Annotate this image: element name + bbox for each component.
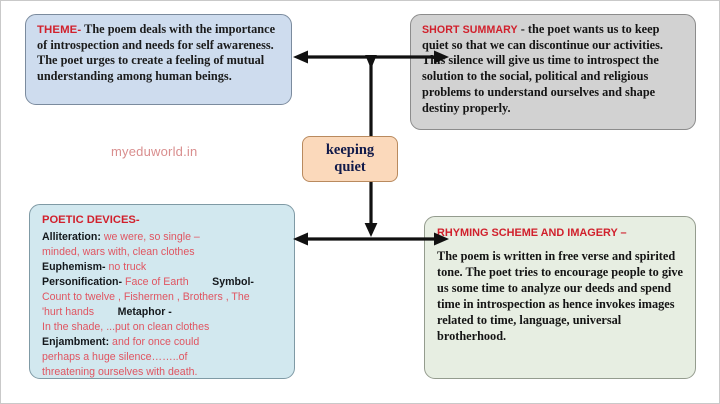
poetic-device-label: Enjambment:: [42, 336, 112, 348]
poetic-device-line: Personification- Face of Earth Symbol-: [42, 275, 286, 290]
poetic-device-line: Euphemism- no truck: [42, 260, 286, 275]
top-connector-arrow: [291, 45, 451, 143]
central-topic-line1: keeping: [326, 142, 374, 158]
poetic-device-text: Face of Earth: [125, 276, 189, 288]
rhyming-imagery-heading: RHYMING SCHEME AND IMAGERY –: [437, 226, 687, 240]
poetic-device-text: minded, wars with, clean clothes: [42, 246, 195, 258]
poetic-device-text: threatening ourselves with death.: [42, 366, 197, 378]
poetic-device-line: Enjambment: and for once could: [42, 335, 286, 350]
central-topic-line2: quiet: [334, 159, 365, 175]
poetic-device-label: Euphemism-: [42, 261, 109, 273]
short-summary-node[interactable]: SHORT SUMMARY - the poet wants us to kee…: [410, 14, 696, 130]
watermark: myeduworld.in: [111, 144, 197, 159]
poetic-device-line: minded, wars with, clean clothes: [42, 245, 286, 260]
poetic-device-line: In the shade, ...put on clean clothes: [42, 320, 286, 335]
poetic-device-line: perhaps a huge silence……..of: [42, 350, 286, 365]
poetic-device-spacer: [94, 306, 118, 318]
poetic-devices-list: Alliteration: we were, so single –minded…: [42, 230, 286, 380]
poetic-device-line: Count to twelve , Fishermen , Brothers ,…: [42, 290, 286, 305]
poetic-device-label-secondary: Symbol-: [212, 276, 254, 288]
poetic-device-label: Personification-: [42, 276, 125, 288]
central-topic-label: keeping quiet: [326, 142, 374, 176]
poetic-device-text: Count to twelve , Fishermen , Brothers ,…: [42, 291, 250, 303]
poetic-devices-heading: POETIC DEVICES-: [42, 213, 286, 229]
poetic-device-line: threatening ourselves with death.: [42, 365, 286, 380]
theme-heading: THEME-: [37, 24, 81, 36]
poetic-device-text: no truck: [109, 261, 147, 273]
bottom-connector-arrow: [291, 177, 451, 249]
poetic-devices-node[interactable]: POETIC DEVICES- Alliteration: we were, s…: [29, 204, 295, 379]
central-topic-node[interactable]: keeping quiet: [302, 136, 398, 182]
rhyming-imagery-node[interactable]: RHYMING SCHEME AND IMAGERY – The poem is…: [424, 216, 696, 379]
poetic-device-label-secondary: Metaphor -: [118, 306, 172, 318]
poetic-device-text: 'hurt hands: [42, 306, 94, 318]
poetic-device-line: 'hurt hands Metaphor -: [42, 305, 286, 320]
poetic-device-text: In the shade, ...put on clean clothes: [42, 321, 209, 333]
poetic-device-spacer: [189, 276, 213, 288]
poetic-device-text: we were, so single –: [104, 231, 200, 243]
poetic-device-text: and for once could: [112, 336, 199, 348]
theme-node[interactable]: THEME- The poem deals with the importanc…: [25, 14, 292, 105]
rhyming-imagery-body: The poem is written in free verse and sp…: [437, 249, 683, 343]
poetic-device-label: Alliteration:: [42, 231, 104, 243]
short-summary-heading: SHORT SUMMARY: [422, 24, 518, 36]
poetic-device-line: Alliteration: we were, so single –: [42, 230, 286, 245]
mindmap-canvas: THEME- The poem deals with the importanc…: [0, 0, 720, 404]
poetic-device-text: perhaps a huge silence……..of: [42, 351, 187, 363]
